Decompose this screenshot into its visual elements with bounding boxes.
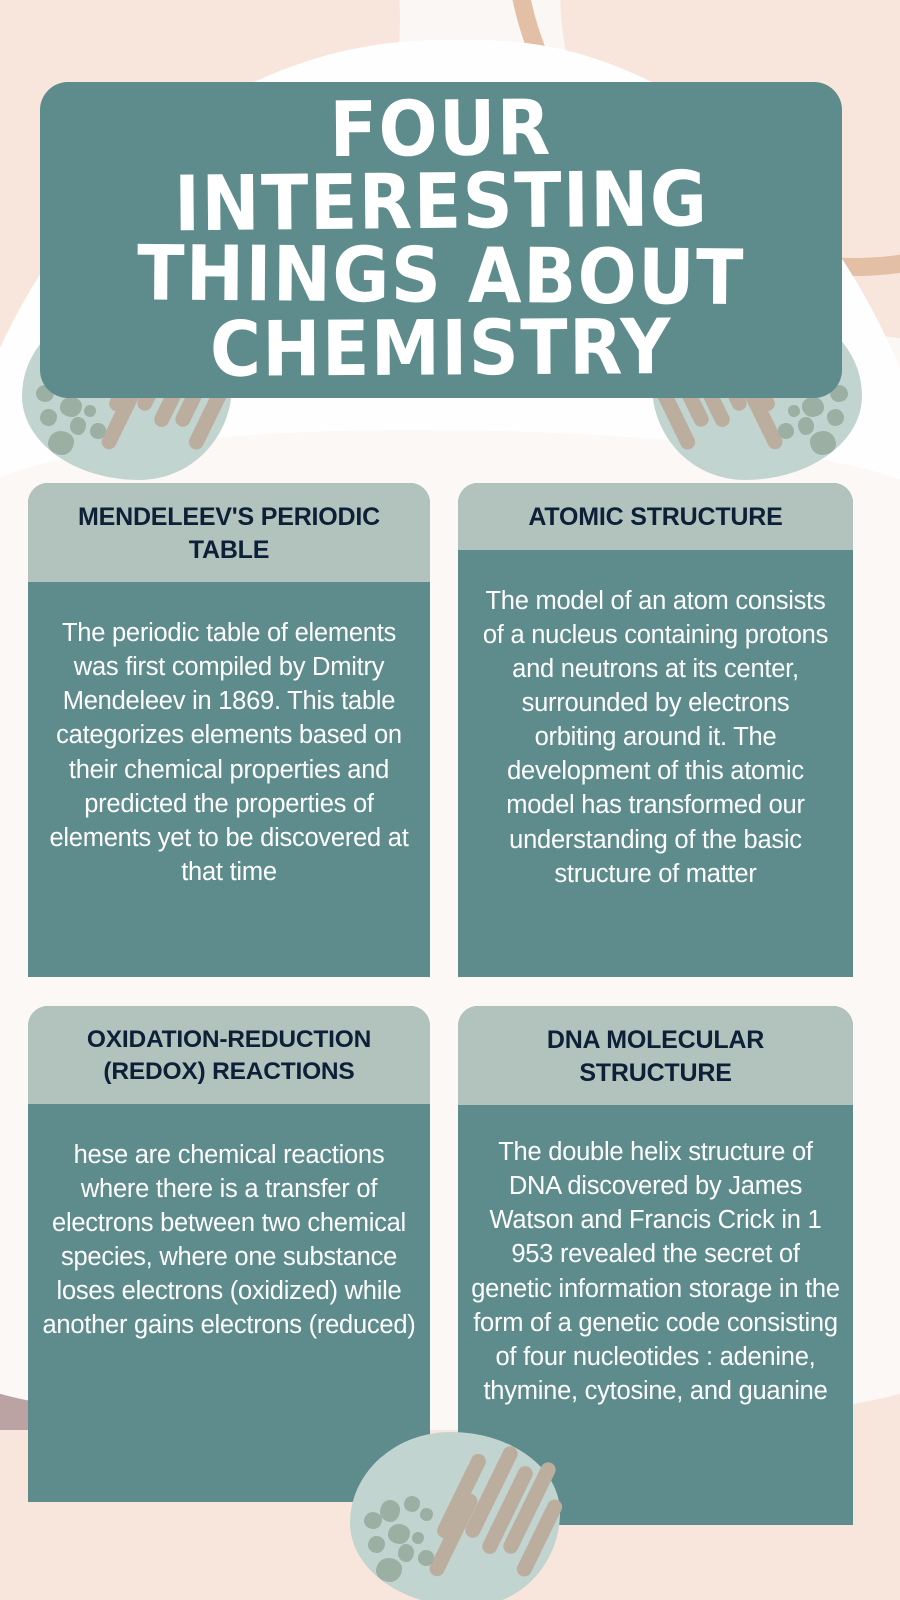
card-grid: MENDELEEV'S PERIODIC TABLE The periodic … xyxy=(0,0,900,1600)
blob-dot xyxy=(412,1532,424,1544)
blob-dot xyxy=(376,1558,402,1582)
card-body-text: The model of an atom consists of a nucle… xyxy=(458,550,853,907)
blob-dot xyxy=(420,1508,433,1521)
blob-dot xyxy=(388,1524,410,1544)
blob-dot xyxy=(404,1496,420,1512)
card-atomic-structure: ATOMIC STRUCTURE The model of an atom co… xyxy=(458,483,853,977)
blob-dot xyxy=(368,1536,385,1553)
card-oxidation-reduction-redox-reactions: OXIDATION-REDUCTION (REDOX) REACTIONS he… xyxy=(28,1006,430,1502)
infographic-poster: Four Interesting Things About Chemistry … xyxy=(0,0,900,1600)
card-mendeleevs-periodic-table: MENDELEEV'S PERIODIC TABLE The periodic … xyxy=(28,483,430,977)
card-title: DNA MOLECULAR STRUCTURE xyxy=(458,1006,853,1105)
card-title: ATOMIC STRUCTURE xyxy=(458,483,853,550)
blob-dot xyxy=(418,1550,434,1566)
card-body-text: hese are chemical reactions where there … xyxy=(28,1104,430,1359)
blob-dot xyxy=(364,1512,382,1529)
blob-dot xyxy=(380,1500,400,1522)
card-title: OXIDATION-REDUCTION (REDOX) REACTIONS xyxy=(28,1006,430,1104)
blob-dot xyxy=(398,1544,414,1562)
card-body-text: The double helix structure of DNA discov… xyxy=(458,1105,853,1424)
leaf-blob-decoration-bottom xyxy=(350,1432,560,1600)
card-title: MENDELEEV'S PERIODIC TABLE xyxy=(28,483,430,582)
card-body-text: The periodic table of elements was first… xyxy=(28,582,430,905)
